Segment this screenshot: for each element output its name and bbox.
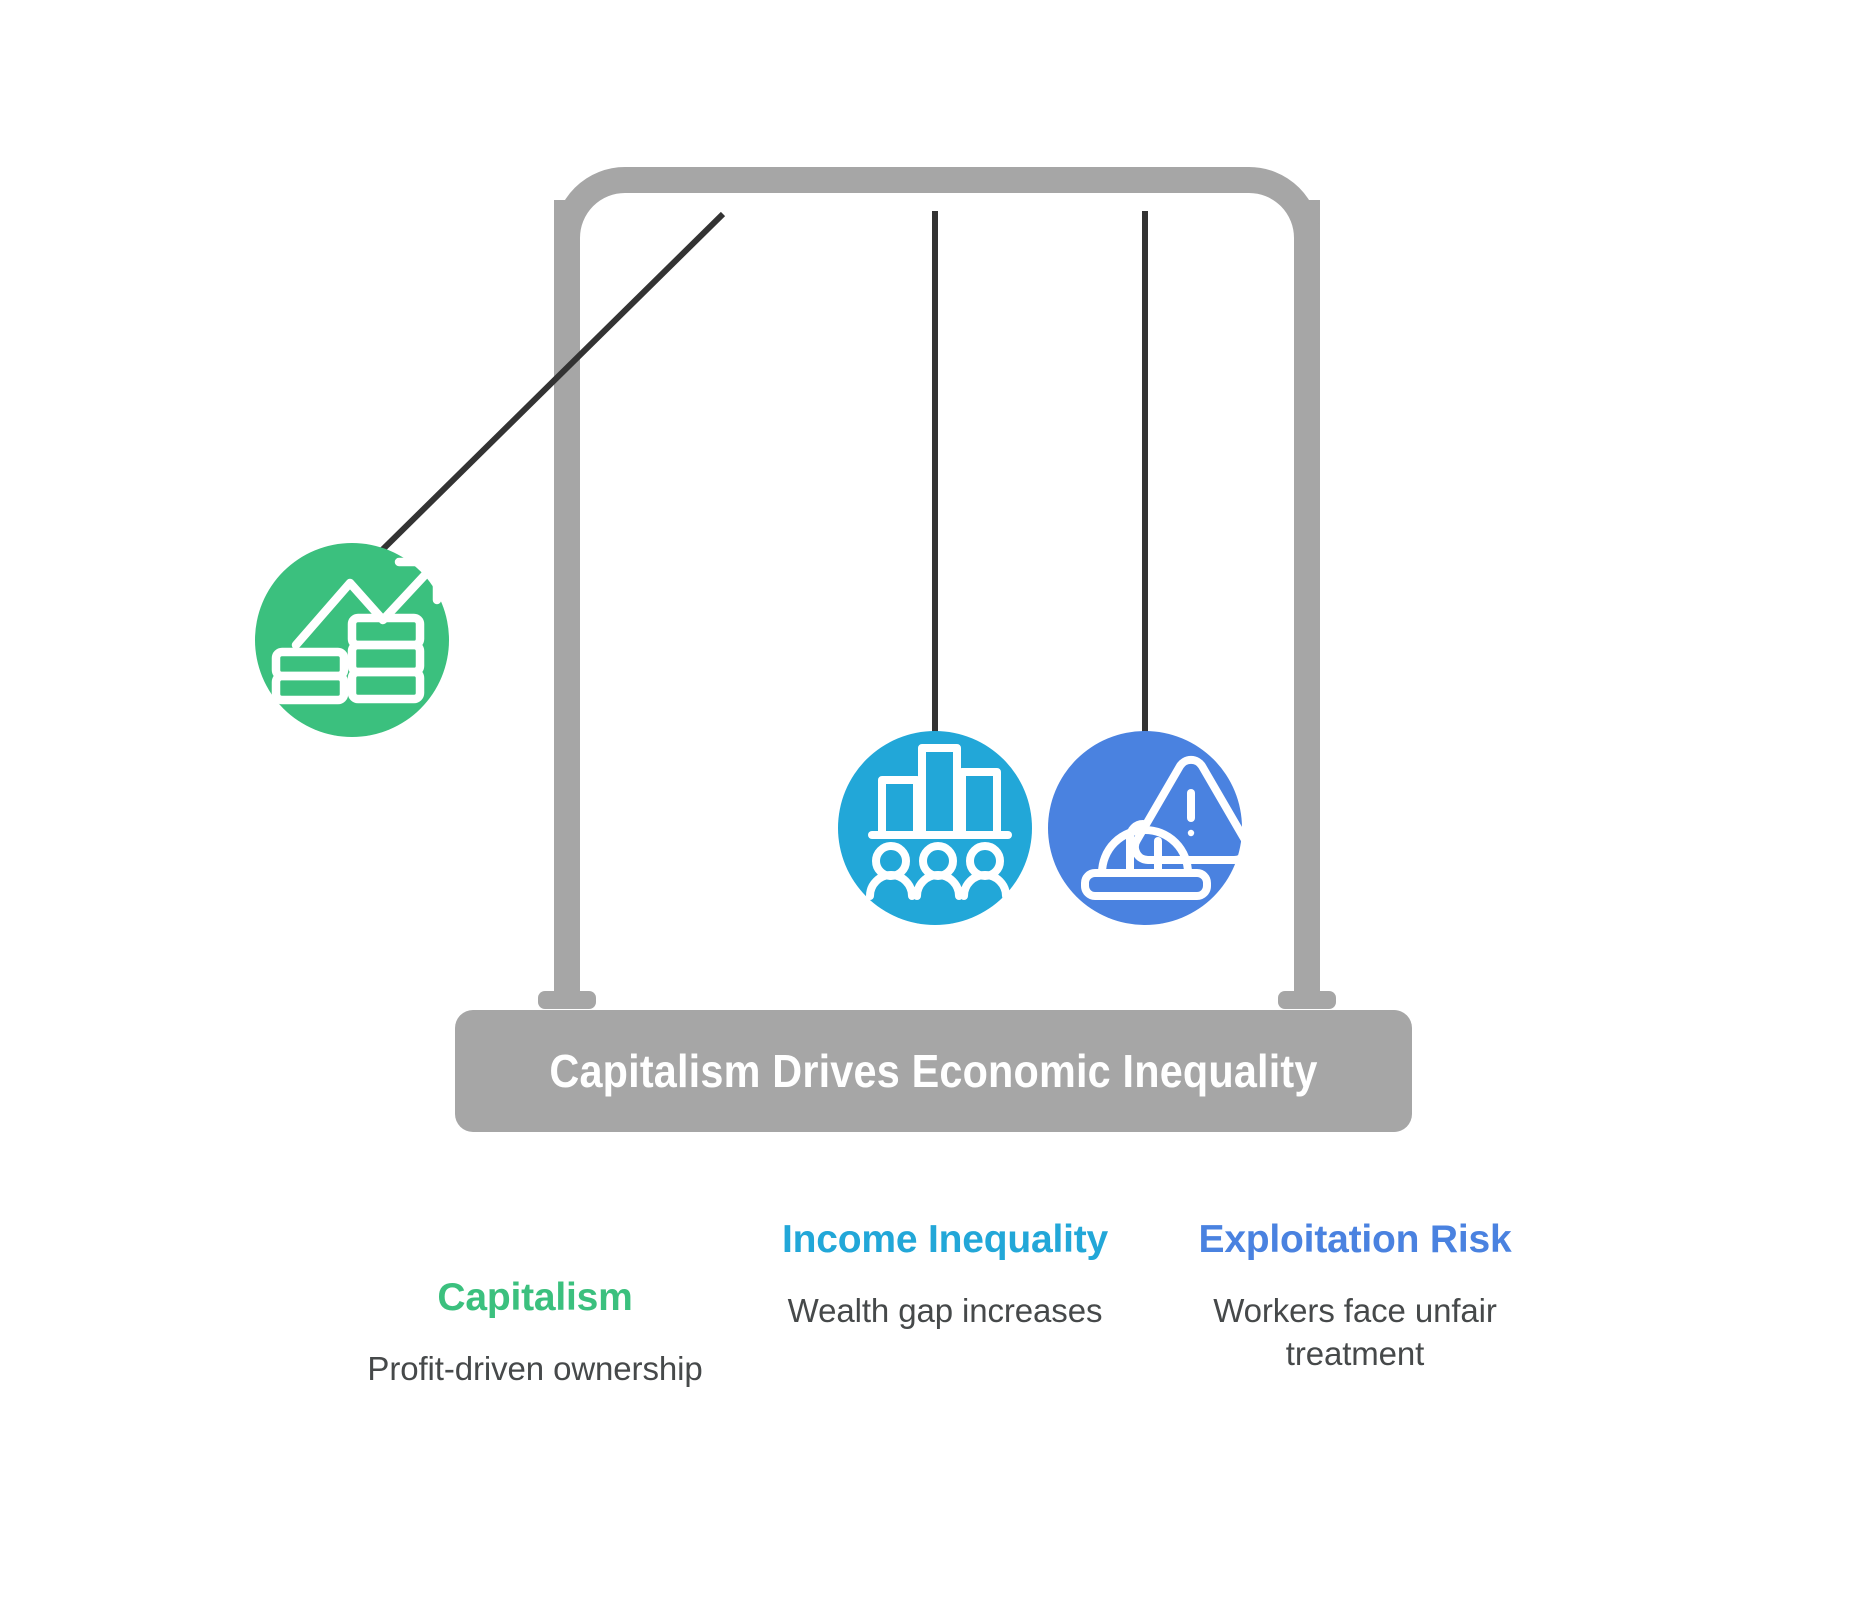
frame-right-post [1294,200,1320,1005]
base-plate [455,1010,1412,1132]
ball-exploitation-risk[interactable] [1048,731,1247,925]
frame-foot-collars [538,991,1336,1009]
right-foot-collar [1278,991,1336,1009]
legend-description-capitalism: Profit-driven ownership [340,1348,730,1391]
cradle-strings [372,211,1145,735]
ball-income-inequality[interactable] [838,731,1032,925]
legend-title-exploitation-risk: Exploitation Risk [1160,1215,1550,1266]
legend-item-income-inequality: Income Inequality Wealth gap increases [740,1215,1150,1333]
diagram-canvas: Capitalism Drives Economic Inequality Ca… [0,0,1865,1610]
legend-row: Capitalism Profit-driven ownership Incom… [330,1215,1560,1555]
legend-item-capitalism: Capitalism Profit-driven ownership [330,1215,740,1391]
frame-left-post [554,200,580,1005]
legend-title-capitalism: Capitalism [340,1273,730,1324]
left-foot-collar [538,991,596,1009]
legend-title-income-inequality: Income Inequality [750,1215,1140,1266]
ball-capitalism[interactable] [255,543,449,737]
string-capitalism [372,214,723,560]
legend-item-exploitation-risk: Exploitation Risk Workers face unfair tr… [1150,1215,1560,1375]
legend-description-exploitation-risk: Workers face unfair treatment [1160,1290,1550,1376]
legend-description-income-inequality: Wealth gap increases [750,1290,1140,1333]
